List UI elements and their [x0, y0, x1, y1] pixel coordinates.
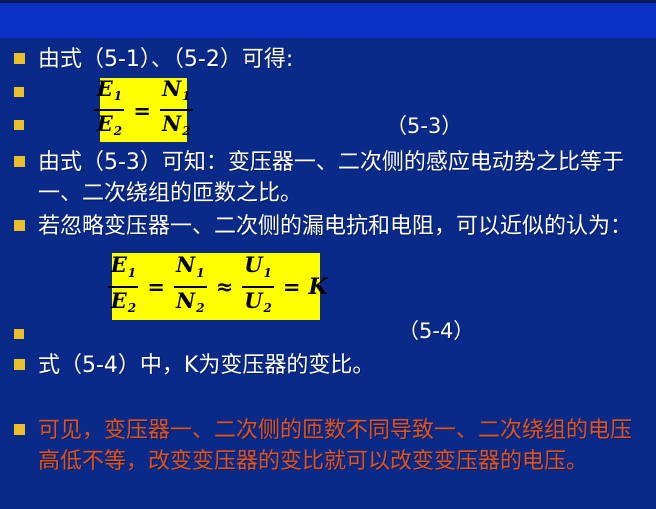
bullet-text-3: 若忽略变压器一、二次侧的漏电抗和电阻，可以近似的认为：	[38, 211, 632, 242]
bullet-text-5: 可见，变压器一、二次侧的匝数不同导致一、二次绕组的电压高低不等，改变变压器的变比…	[38, 415, 642, 477]
bullet-row-empty-3	[14, 320, 24, 339]
fraction-u1-u2: U1 U2	[242, 253, 274, 319]
fraction-numerator: E1	[109, 253, 138, 284]
bullet-marker-square	[14, 220, 25, 231]
fraction-e1-e2: E1 E2	[94, 77, 124, 143]
operator-equals: =	[283, 274, 301, 299]
bullet-marker-square	[14, 359, 25, 370]
subscript-2: 2	[181, 124, 190, 138]
fraction-denominator: E2	[95, 112, 124, 143]
formula-box-1: E1 E2 = N1 N2	[100, 78, 187, 142]
subscript-2: 2	[113, 124, 122, 138]
bullet-row-empty-2	[14, 111, 24, 130]
equation-label-5-3: （5-3）	[386, 110, 462, 140]
fraction-denominator: E2	[109, 289, 138, 320]
variable-k: K	[308, 274, 327, 300]
bullet-text-2: 由式（5-3）可知：变压器一、二次侧的感应电动势之比等于一、二次绕组的匝数之比。	[38, 147, 642, 209]
fraction-denominator: N2	[160, 112, 193, 143]
slide-title-banner	[0, 3, 656, 38]
fraction-numerator: U1	[242, 253, 274, 284]
bullet-marker-square	[14, 156, 25, 167]
fraction-denominator: U2	[242, 289, 274, 320]
operator-equals: =	[133, 98, 151, 123]
subscript-2: 2	[263, 301, 272, 315]
fraction-n1-n2: N1 N2	[160, 77, 193, 143]
subscript-2: 2	[127, 301, 136, 315]
operator-equals: =	[147, 274, 165, 299]
subscript-2: 2	[195, 301, 204, 315]
bullet-marker-square	[14, 87, 24, 97]
bullet-text-1: 由式（5-1）、（5-2）可得:	[38, 44, 293, 75]
fraction-numerator: N1	[174, 253, 207, 284]
subscript-1: 1	[195, 266, 204, 280]
subscript-1: 1	[181, 89, 190, 103]
bullet-row-1: 由式（5-1）、（5-2）可得:	[14, 44, 634, 75]
fraction-n1-n2: N1 N2	[174, 253, 207, 319]
subscript-1: 1	[113, 89, 122, 103]
fraction-e1-e2: E1 E2	[108, 253, 138, 319]
subscript-1: 1	[127, 266, 136, 280]
subscript-1: 1	[263, 266, 272, 280]
bullet-row-empty-1	[14, 78, 24, 97]
bullet-marker-square	[14, 424, 25, 435]
formula-box-2: E1 E2 = N1 N2 ≈ U1 U2 = K	[112, 253, 320, 320]
operator-approx: ≈	[216, 274, 234, 299]
bullet-marker-square	[14, 329, 24, 339]
slide-canvas: 由式（5-1）、（5-2）可得: E1 E2 = N1 N2 （5-3） 由式（…	[0, 0, 656, 509]
bullet-row-2: 由式（5-3）可知：变压器一、二次侧的感应电动势之比等于一、二次绕组的匝数之比。	[14, 147, 642, 209]
bullet-marker-square	[14, 53, 25, 64]
fraction-numerator: E1	[95, 77, 124, 108]
bullet-row-4: 式（5-4）中，K为变压器的变比。	[14, 350, 642, 381]
bullet-text-4: 式（5-4）中，K为变压器的变比。	[38, 350, 374, 381]
fraction-denominator: N2	[174, 289, 207, 320]
bullet-row-5: 可见，变压器一、二次侧的匝数不同导致一、二次绕组的电压高低不等，改变变压器的变比…	[14, 415, 642, 477]
bullet-row-3: 若忽略变压器一、二次侧的漏电抗和电阻，可以近似的认为：	[14, 211, 642, 242]
bullet-marker-square	[14, 120, 24, 130]
fraction-numerator: N1	[160, 77, 193, 108]
equation-label-5-4: （5-4）	[398, 315, 474, 345]
